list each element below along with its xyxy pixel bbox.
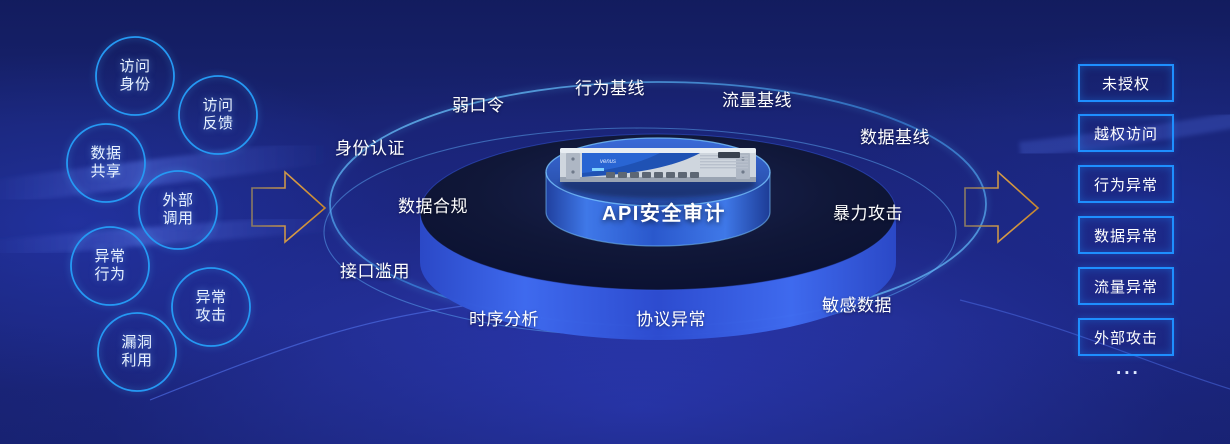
output-ellipsis: ... — [1116, 358, 1141, 380]
flow-arrows — [0, 0, 1230, 444]
arrow-inputs-to-core[interactable] — [252, 172, 325, 242]
output-box-behavior-anomaly[interactable]: 行为异常 — [1078, 165, 1174, 203]
output-box-privilege-access[interactable]: 越权访问 — [1078, 114, 1174, 152]
output-box-external-attack[interactable]: 外部攻击 — [1078, 318, 1174, 356]
output-box-unauthorized[interactable]: 未授权 — [1078, 64, 1174, 102]
output-box-traffic-anomaly[interactable]: 流量异常 — [1078, 267, 1174, 305]
diagram-canvas: venus API安全审计 身份认证 弱口令 行为基线 流量基线 数据基线 数据… — [0, 0, 1230, 444]
output-box-data-anomaly[interactable]: 数据异常 — [1078, 216, 1174, 254]
arrow-core-to-outputs[interactable] — [965, 172, 1038, 242]
